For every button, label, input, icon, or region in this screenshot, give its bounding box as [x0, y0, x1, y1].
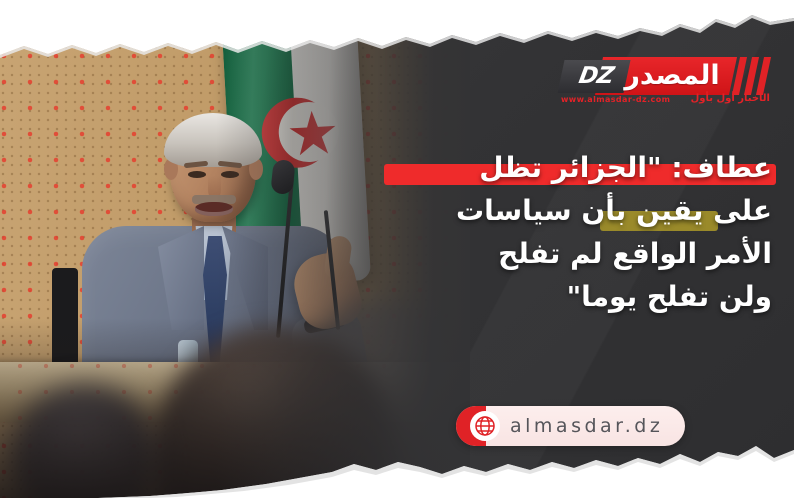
headline-line-4: ولن تفلح يوما": [372, 275, 772, 318]
headline-line-2: على يقين بأن سياسات: [372, 189, 772, 232]
headline-line-3-text: الأمر الواقع لم تفلح: [498, 237, 772, 270]
site-url-label: almasdar.dz: [510, 415, 663, 437]
logo-website-url: www.almasdar-dz.com: [561, 95, 670, 104]
headline-line-4-text: ولن تفلح يوما": [567, 280, 772, 313]
globe-icon: [470, 411, 500, 441]
news-card: المصدر DZ الأخبار أول بأول www.almasdar-…: [0, 0, 794, 498]
headline: عطاف: "الجزائر تظل على يقين بأن سياسات ا…: [372, 146, 772, 318]
website-badge[interactable]: almasdar.dz: [456, 406, 685, 446]
headline-line-3: الأمر الواقع لم تفلح: [372, 232, 772, 275]
headline-line-2-text: على يقين بأن سياسات: [456, 194, 772, 227]
site-logo[interactable]: المصدر DZ الأخبار أول بأول www.almasdar-…: [561, 57, 776, 107]
logo-tagline: الأخبار أول بأول: [691, 93, 770, 104]
logo-arabic-wordmark: المصدر: [613, 56, 731, 94]
headline-line-1-text: عطاف: "الجزائر تظل: [479, 151, 772, 184]
logo-diagonal-stripes: [736, 57, 776, 95]
logo-dz-text: DZ: [564, 61, 627, 91]
headline-line-1: عطاف: "الجزائر تظل: [372, 146, 772, 189]
